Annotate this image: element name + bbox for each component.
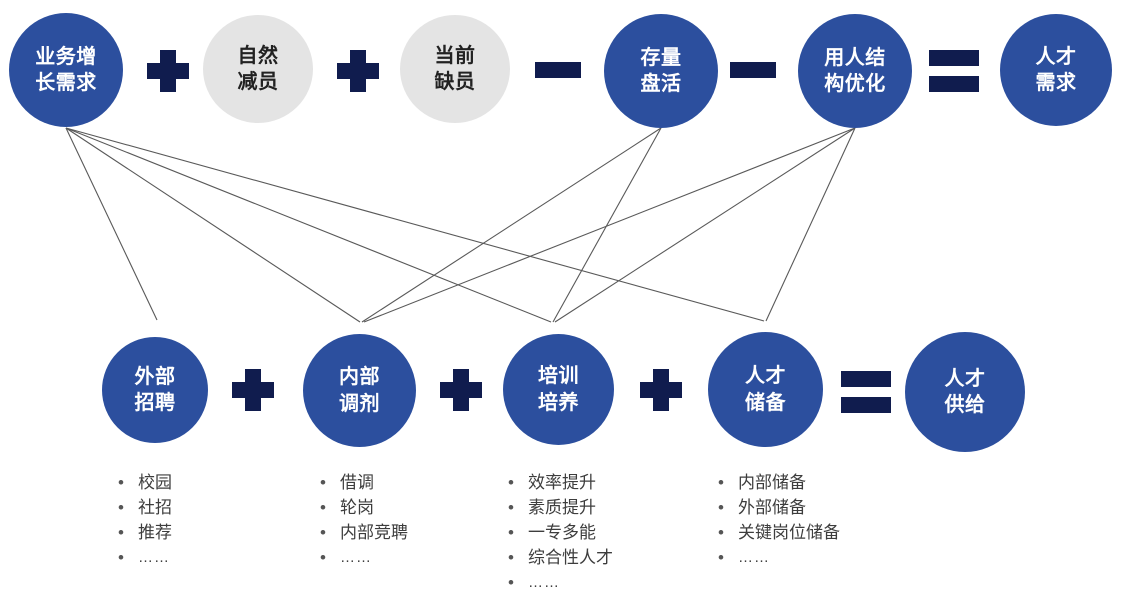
bullets-talent-reserve: • 内部储备 • 外部储备 • 关键岗位储备 • …… xyxy=(718,470,840,570)
list-item: • 综合性人才 xyxy=(508,545,613,570)
list-item: • …… xyxy=(118,545,172,570)
list-item-label: …… xyxy=(738,545,770,570)
bullets-training-development: • 效率提升 • 素质提升 • 一专多能 • 综合性人才 • …… xyxy=(508,470,613,595)
plus-bar-vertical xyxy=(653,369,669,411)
minus-bar xyxy=(730,62,776,78)
node-training-development[interactable]: 培训 培养 xyxy=(503,334,614,445)
bullet-dot-icon: • xyxy=(508,470,528,495)
operator-equals-2 xyxy=(841,371,891,413)
connector-growth-to-reserve xyxy=(66,128,764,321)
node-current-vacancy[interactable]: 当前 缺员 xyxy=(400,15,510,123)
node-line-2: 长需求 xyxy=(35,70,97,96)
list-item: • 推荐 xyxy=(118,520,172,545)
node-line-1: 当前 xyxy=(435,43,476,69)
node-line-2: 供给 xyxy=(945,392,986,418)
minus-bar xyxy=(535,62,581,78)
bullets-external-recruitment: • 校园 • 社招 • 推荐 • …… xyxy=(118,470,172,570)
list-item: • 校园 xyxy=(118,470,172,495)
node-line-1: 人才 xyxy=(745,363,786,389)
node-line-2: 构优化 xyxy=(824,71,886,97)
list-item: • …… xyxy=(718,545,840,570)
node-line-1: 培训 xyxy=(538,363,579,389)
operator-equals-1 xyxy=(929,50,979,92)
list-item: • 社招 xyxy=(118,495,172,520)
list-item-label: 一专多能 xyxy=(528,520,596,545)
node-line-2: 缺员 xyxy=(435,69,476,95)
connector-growth-to-internal xyxy=(66,128,360,322)
list-item-label: 关键岗位储备 xyxy=(738,520,840,545)
list-item-label: 素质提升 xyxy=(528,495,596,520)
list-item: • 借调 xyxy=(320,470,408,495)
bullet-dot-icon: • xyxy=(320,470,340,495)
equals-bar-bottom xyxy=(929,76,979,92)
list-item: • 一专多能 xyxy=(508,520,613,545)
node-stock-revitalization[interactable]: 存量 盘活 xyxy=(604,14,718,128)
node-line-1: 业务增 xyxy=(35,44,97,70)
equals-bar-top xyxy=(929,50,979,66)
plus-bar-vertical xyxy=(350,50,366,92)
node-talent-demand[interactable]: 人才 需求 xyxy=(1000,14,1112,126)
list-item: • 关键岗位储备 xyxy=(718,520,840,545)
node-line-1: 人才 xyxy=(1036,44,1077,70)
bullet-dot-icon: • xyxy=(718,470,738,495)
connector-structure-to-training xyxy=(555,128,855,322)
bullet-dot-icon: • xyxy=(508,520,528,545)
node-internal-transfer[interactable]: 内部 调剂 xyxy=(303,334,416,447)
list-item-label: …… xyxy=(528,570,560,595)
diagram-canvas: 业务增 长需求 自然 减员 当前 缺员 存量 盘活 用人结 构优化 人才 需求 xyxy=(0,0,1125,599)
list-item-label: 综合性人才 xyxy=(528,545,613,570)
node-line-2: 招聘 xyxy=(135,390,176,416)
bullet-dot-icon: • xyxy=(508,570,528,595)
bullet-dot-icon: • xyxy=(118,495,138,520)
operator-minus-2 xyxy=(730,52,776,88)
bullet-dot-icon: • xyxy=(118,470,138,495)
node-line-2: 减员 xyxy=(238,69,279,95)
bullet-dot-icon: • xyxy=(320,520,340,545)
list-item: • 外部储备 xyxy=(718,495,840,520)
bullet-dot-icon: • xyxy=(320,495,340,520)
plus-bar-vertical xyxy=(160,50,176,92)
operator-plus-1 xyxy=(147,50,189,92)
list-item: • 内部储备 xyxy=(718,470,840,495)
list-item: • 素质提升 xyxy=(508,495,613,520)
list-item-label: 社招 xyxy=(138,495,172,520)
bullet-dot-icon: • xyxy=(508,545,528,570)
list-item-label: 轮岗 xyxy=(340,495,374,520)
node-line-1: 存量 xyxy=(641,45,682,71)
connector-stock-to-training xyxy=(553,128,661,322)
list-item-label: 借调 xyxy=(340,470,374,495)
operator-plus-3 xyxy=(232,369,274,411)
bullet-dot-icon: • xyxy=(320,545,340,570)
list-item-label: 校园 xyxy=(138,470,172,495)
list-item: • 轮岗 xyxy=(320,495,408,520)
node-natural-attrition[interactable]: 自然 减员 xyxy=(203,15,313,123)
equals-bar-bottom xyxy=(841,397,891,413)
node-line-1: 用人结 xyxy=(824,45,886,71)
node-external-recruitment[interactable]: 外部 招聘 xyxy=(102,337,208,443)
node-line-1: 外部 xyxy=(135,364,176,390)
node-line-2: 需求 xyxy=(1036,70,1077,96)
node-business-growth-demand[interactable]: 业务增 长需求 xyxy=(9,13,123,127)
bullet-dot-icon: • xyxy=(718,520,738,545)
bullet-dot-icon: • xyxy=(508,495,528,520)
bullet-dot-icon: • xyxy=(718,495,738,520)
node-line-2: 盘活 xyxy=(641,71,682,97)
bullet-dot-icon: • xyxy=(118,545,138,570)
node-line-2: 培养 xyxy=(538,390,579,416)
node-line-1: 人才 xyxy=(945,366,986,392)
bullet-dot-icon: • xyxy=(118,520,138,545)
operator-plus-5 xyxy=(640,369,682,411)
bullets-internal-transfer: • 借调 • 轮岗 • 内部竞聘 • …… xyxy=(320,470,408,570)
node-talent-reserve[interactable]: 人才 储备 xyxy=(708,332,823,447)
bullet-dot-icon: • xyxy=(718,545,738,570)
operator-plus-2 xyxy=(337,50,379,92)
operator-minus-1 xyxy=(535,52,581,88)
connector-structure-to-internal xyxy=(364,128,855,322)
list-item: • …… xyxy=(508,570,613,595)
list-item-label: …… xyxy=(340,545,372,570)
operator-plus-4 xyxy=(440,369,482,411)
connector-stock-to-internal xyxy=(362,128,661,322)
connector-growth-to-training xyxy=(66,128,551,322)
node-line-1: 内部 xyxy=(339,364,380,390)
list-item-label: 推荐 xyxy=(138,520,172,545)
list-item-label: 内部储备 xyxy=(738,470,806,495)
list-item: • …… xyxy=(320,545,408,570)
connector-growth-to-external xyxy=(66,128,157,320)
node-line-2: 储备 xyxy=(745,390,786,416)
node-line-1: 自然 xyxy=(238,43,279,69)
list-item-label: 外部储备 xyxy=(738,495,806,520)
list-item-label: 效率提升 xyxy=(528,470,596,495)
plus-bar-vertical xyxy=(453,369,469,411)
node-staffing-structure-optimization[interactable]: 用人结 构优化 xyxy=(798,14,912,128)
node-talent-supply[interactable]: 人才 供给 xyxy=(905,332,1025,452)
list-item-label: …… xyxy=(138,545,170,570)
list-item-label: 内部竞聘 xyxy=(340,520,408,545)
connector-structure-to-reserve xyxy=(766,128,855,321)
list-item: • 内部竞聘 xyxy=(320,520,408,545)
plus-bar-vertical xyxy=(245,369,261,411)
list-item: • 效率提升 xyxy=(508,470,613,495)
equals-bar-top xyxy=(841,371,891,387)
node-line-2: 调剂 xyxy=(339,391,380,417)
